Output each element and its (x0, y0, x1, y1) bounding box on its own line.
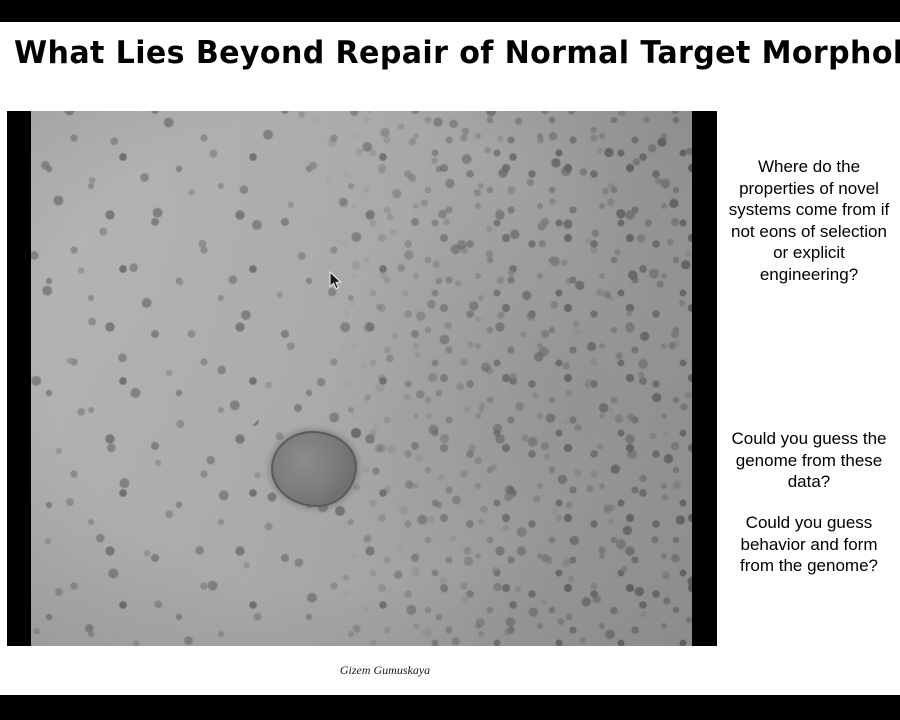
cell-speckle-layer-sparse (31, 111, 692, 646)
mouse-pointer-icon (329, 271, 342, 290)
letterbox-bottom-bar (0, 695, 900, 720)
cell-cluster (271, 431, 357, 507)
microscopy-figure-frame (7, 111, 717, 646)
cell-speckle-layer-dense (335, 111, 692, 646)
microscopy-vignette (31, 111, 692, 646)
cell-speckle-layer-dense-overlay (279, 111, 692, 646)
slide-canvas: What Lies Beyond Repair of Normal Target… (0, 22, 900, 695)
text-block-behavior-question: Could you guess behavior and form from t… (725, 512, 893, 577)
cell-speckle-layer-mid (31, 111, 692, 646)
text-block-genome-question: Could you guess the genome from these da… (725, 428, 893, 493)
attribution-credit: Gizem Gumuskaya (0, 663, 770, 678)
page-title: What Lies Beyond Repair of Normal Target… (14, 35, 868, 71)
letterbox-top-bar (0, 0, 900, 22)
microscopy-image (31, 111, 692, 646)
slide-root: What Lies Beyond Repair of Normal Target… (0, 0, 900, 720)
text-block-origin-question: Where do the properties of novel systems… (725, 156, 893, 285)
